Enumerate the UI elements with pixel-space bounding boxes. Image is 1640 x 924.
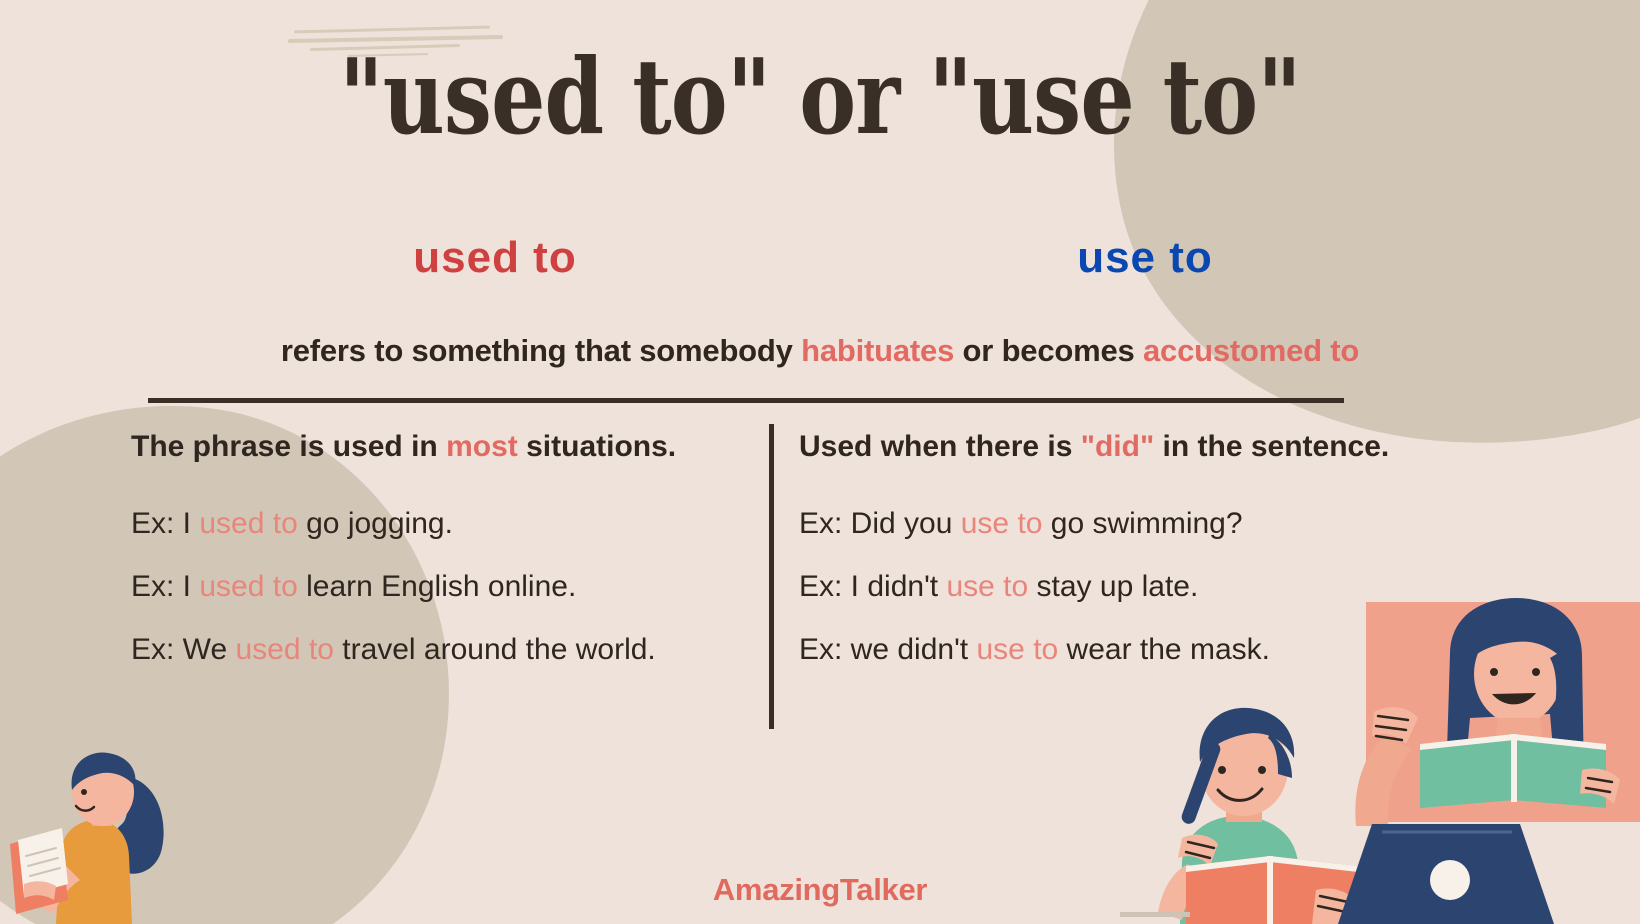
- example-highlight: used to: [199, 570, 297, 603]
- example-pre: Ex: I didn't: [799, 570, 946, 603]
- example-highlight: use to: [946, 570, 1028, 603]
- example-item: Ex: Did you use to go swimming?: [799, 504, 1479, 543]
- example-pre: Ex: I: [131, 570, 199, 603]
- infographic-canvas: "used to" or "use to" used to use to ref…: [0, 0, 1640, 924]
- example-highlight: used to: [235, 633, 333, 666]
- example-post: travel around the world.: [334, 633, 656, 666]
- students-video-call-illustration: [1120, 594, 1640, 924]
- column-used-to: The phrase is used in most situations. E…: [131, 428, 751, 693]
- example-highlight: use to: [961, 507, 1043, 540]
- subtitle-part-1: refers to something that somebody: [281, 333, 801, 368]
- example-pre: Ex: we didn't: [799, 633, 976, 666]
- example-pre: Ex: We: [131, 633, 235, 666]
- vertical-divider: [769, 424, 774, 729]
- rule-right-pre: Used when there is: [799, 430, 1081, 463]
- horizontal-divider: [148, 398, 1344, 403]
- page-title: "used to" or "use to": [148, 42, 1493, 151]
- rule-right-post: in the sentence.: [1154, 430, 1389, 463]
- example-pre: Ex: Did you: [799, 507, 961, 540]
- rule-left-highlight: most: [446, 430, 518, 463]
- column-headers: used to use to: [0, 233, 1640, 283]
- column-header-use-to: use to: [820, 233, 1470, 283]
- rule-statement-left: The phrase is used in most situations.: [131, 428, 751, 466]
- example-item: Ex: We used to travel around the world.: [131, 630, 691, 669]
- subtitle: refers to something that somebody habitu…: [0, 333, 1640, 369]
- example-post: go jogging.: [298, 507, 453, 540]
- example-item: Ex: I used to go jogging.: [131, 504, 691, 543]
- example-highlight: use to: [976, 633, 1058, 666]
- example-highlight: used to: [199, 507, 297, 540]
- rule-right-highlight: "did": [1081, 430, 1154, 463]
- example-post: go swimming?: [1042, 507, 1242, 540]
- example-pre: Ex: I: [131, 507, 199, 540]
- example-item: Ex: I used to learn English online.: [131, 567, 691, 606]
- subtitle-highlight-habituates: habituates: [801, 333, 954, 368]
- examples-left: Ex: I used to go jogging. Ex: I used to …: [131, 504, 751, 669]
- column-header-used-to: used to: [170, 233, 820, 283]
- example-post: learn English online.: [298, 570, 577, 603]
- subtitle-highlight-accustomed: accustomed to: [1143, 333, 1359, 368]
- rule-left-pre: The phrase is used in: [131, 430, 446, 463]
- rule-left-post: situations.: [518, 430, 676, 463]
- subtitle-part-2: or becomes: [954, 333, 1143, 368]
- rule-statement-right: Used when there is "did" in the sentence…: [799, 428, 1479, 466]
- girl-reading-illustration: [8, 724, 228, 924]
